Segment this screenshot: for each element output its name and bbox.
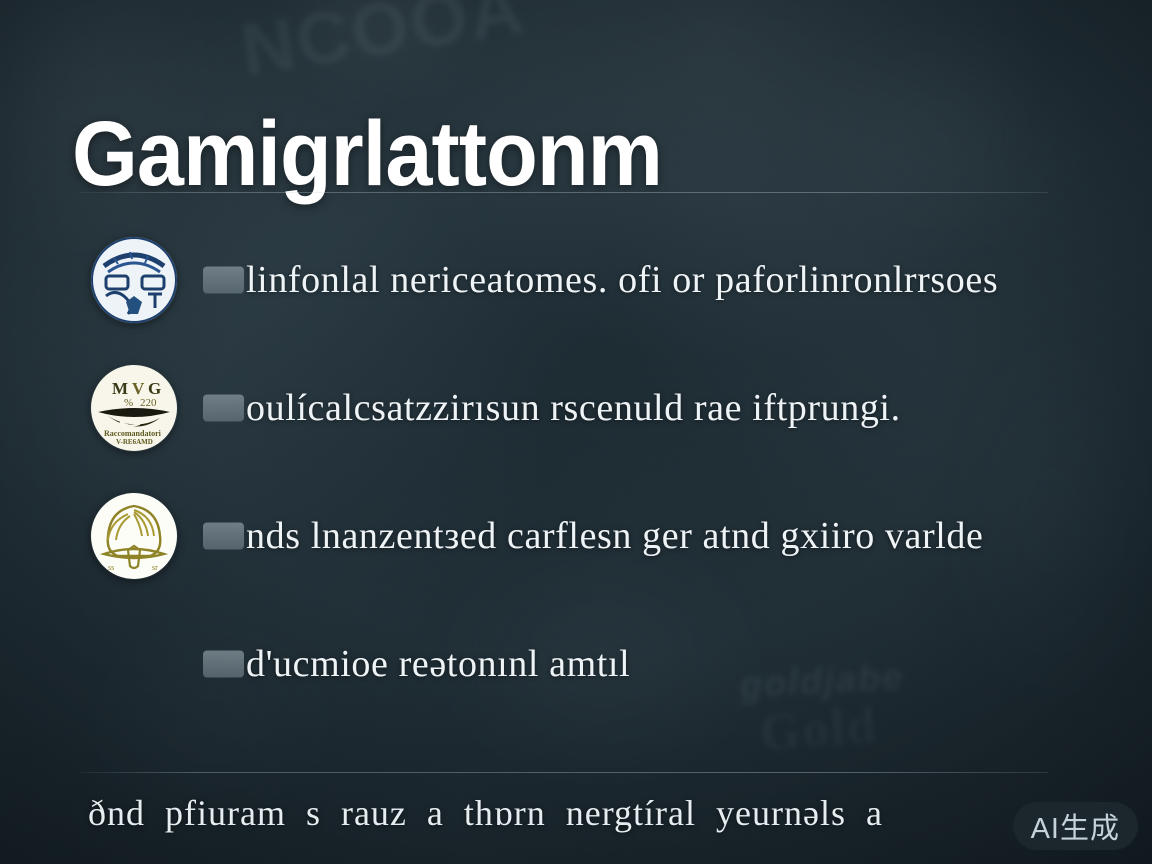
ai-generated-watermark: AI生成 (1013, 802, 1138, 850)
list-item-text: nds lnanzentзed carflesn ger atnd gxiiro… (246, 514, 984, 558)
slide-title: Gamigrlattonm (72, 106, 662, 203)
list-item-text: linfonlal nericeatomes. ofi or paforlinr… (246, 258, 998, 302)
bullet-marker (203, 651, 244, 678)
footer-text: ðnd pfiuram s rauz a thɒrn nergtíral yeu… (88, 792, 883, 834)
svg-text:ss: ss (108, 563, 114, 572)
slide-content: Gamigrlattonm (0, 0, 1152, 864)
circular-emblem-badge-olive-icon: M V G % 220 Raccomandatori V-RE6AMD (90, 364, 178, 452)
bullet-marker (203, 523, 244, 550)
list-item: M V G % 220 Raccomandatori V-RE6AMD oulí… (0, 344, 1152, 472)
svg-text:V: V (132, 379, 145, 398)
list-item: d'ucmioe reǝtonınl amtıl (0, 600, 1152, 728)
bullet-list: linfonlal nericeatomes. ofi or paforlinr… (0, 216, 1152, 728)
list-item-text: d'ucmioe reǝtonınl amtıl (246, 642, 630, 686)
list-item: linfonlal nericeatomes. ofi or paforlinr… (0, 216, 1152, 344)
circular-crest-badge-blue-icon (90, 236, 178, 324)
svg-text:220: 220 (140, 397, 157, 409)
svg-text:M: M (112, 379, 128, 398)
divider-bottom (80, 772, 1048, 773)
svg-text:V-RE6AMD: V-RE6AMD (116, 438, 153, 446)
svg-text:sr: sr (152, 563, 158, 572)
bullet-marker (203, 395, 244, 422)
svg-text:%: % (124, 397, 133, 409)
bullet-marker (203, 267, 244, 294)
list-item: ss sr nds lnanzentзed carflesn ger atnd … (0, 472, 1152, 600)
svg-text:Raccomandatori: Raccomandatori (104, 429, 162, 438)
list-item-text: oulícalcsatzzirısun rscenuld rae iftprun… (246, 386, 901, 430)
svg-text:G: G (148, 379, 161, 398)
circular-heraldic-helm-badge-gold-icon: ss sr (90, 492, 178, 580)
presentation-slide: NCOOA goldjabe Gold Gamigrlattonm (0, 0, 1152, 864)
ai-generated-watermark-label: AI生成 (1031, 805, 1120, 847)
divider-top (80, 192, 1048, 193)
